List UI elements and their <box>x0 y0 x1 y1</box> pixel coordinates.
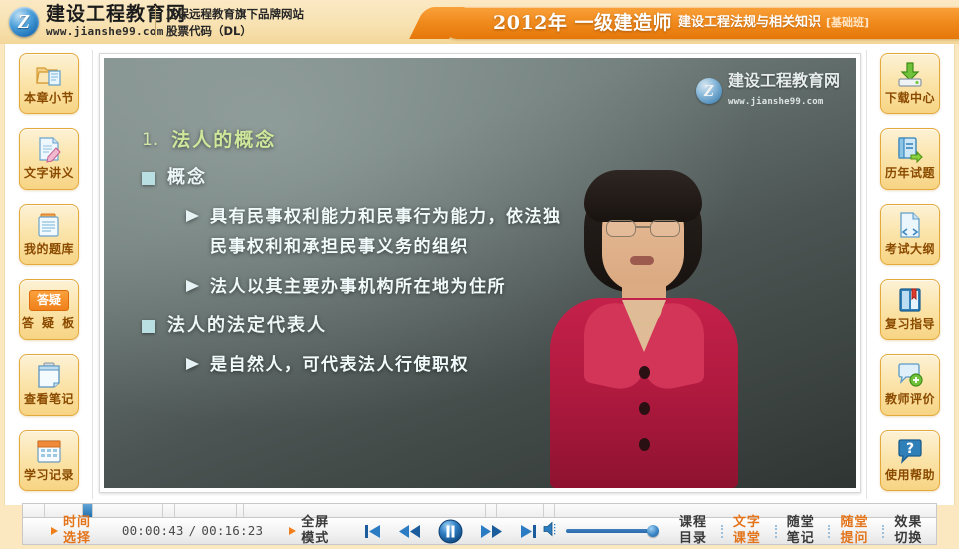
clipboard-lines-icon <box>35 211 63 239</box>
slide-bullet-text: 具有民事权利能力和民事行为能力，依法独 <box>210 204 562 230</box>
course-title-class: [基础班] <box>826 7 869 39</box>
slide-bullet-level3: 具有民事权利能力和民事行为能力，依法独 <box>186 204 836 230</box>
video-stage[interactable]: 建设工程教育网 www.jianshe99.com 1. 法人的概念 概念 <box>99 53 861 493</box>
sidebar-item-label: 查看笔记 <box>24 392 74 406</box>
speech-bubble-plus-icon <box>896 361 924 389</box>
skip-next-icon[interactable] <box>520 523 537 540</box>
sidebar-item-qa-board[interactable]: 答 疑 板 <box>19 279 79 340</box>
sidebar-item-label: 下载中心 <box>885 91 935 105</box>
sidebar-item-my-question-bank[interactable]: 我的题库 <box>19 204 79 265</box>
answer-badge-icon <box>29 290 69 311</box>
volume-control[interactable] <box>543 521 654 542</box>
svg-text:?: ? <box>906 441 914 457</box>
fast-forward-icon[interactable] <box>481 523 502 540</box>
instructor-figure <box>550 170 738 488</box>
sidebar-item-label: 我的题库 <box>24 242 74 256</box>
sidebar-item-label: 历年试题 <box>885 166 935 180</box>
sidebar-item-label: 使用帮助 <box>885 468 935 482</box>
sidebar-item-exam-syllabus[interactable]: 考试大纲 <box>880 204 940 265</box>
transport-controls <box>364 519 537 544</box>
sidebar-item-label: 本章小节 <box>24 91 74 105</box>
player-control-bar: 时间选择 00:00:43 / 00:16:23 全屏模式 <box>22 518 937 545</box>
seek-segment[interactable] <box>497 504 544 517</box>
site-tagline: 正保远程教育旗下品牌网站 股票代码（DL） <box>166 7 304 38</box>
right-sidebar: 下载中心 历年试题 <box>866 44 954 505</box>
fullscreen-label: 全屏模式 <box>301 515 336 547</box>
fullscreen-button[interactable]: 全屏模式 <box>289 515 336 547</box>
sidebar-item-review-guide[interactable]: 复习指导 <box>880 279 940 340</box>
question-bubble-icon: ? <box>896 437 924 465</box>
brand-logo-icon <box>9 7 39 37</box>
triangle-right-icon <box>289 527 296 535</box>
link-text-classroom[interactable]: 文字课堂 <box>724 515 775 547</box>
time-select-label: 时间选择 <box>63 515 98 547</box>
arrow-bullet-icon <box>186 358 199 370</box>
square-bullet-icon <box>142 172 155 185</box>
brand-divider <box>155 6 156 36</box>
time-select-button[interactable]: 时间选择 <box>51 515 98 547</box>
slide-number: 1. <box>142 128 158 152</box>
time-total: 00:16:23 <box>201 523 263 539</box>
seek-segment[interactable] <box>163 504 175 517</box>
calendar-icon <box>35 437 63 465</box>
link-class-question[interactable]: 随堂提问 <box>832 515 883 547</box>
document-code-icon <box>896 211 924 239</box>
link-course-catalog[interactable]: 课程目录 <box>670 515 721 547</box>
brand-text: 建设工程教育网 www.jianshe99.com <box>46 4 186 39</box>
link-effect-switch[interactable]: 效果切换 <box>885 515 936 547</box>
sidebar-item-teacher-rating[interactable]: 教师评价 <box>880 354 940 415</box>
watermark-brand: 建设工程教育网 <box>728 71 840 90</box>
sidebar-item-download-center[interactable]: 下载中心 <box>880 53 940 114</box>
brand-url: www.jianshe99.com <box>46 25 186 39</box>
square-bullet-icon <box>142 320 155 333</box>
watermark-url: www.jianshe99.com <box>728 97 824 107</box>
slide-heading: 法人的概念 <box>171 128 276 152</box>
player-body: 本章小节 文字讲义 <box>4 44 955 505</box>
slide-bullet-level3: 法人以其主要办事机构所在地为住所 <box>186 274 836 300</box>
course-title-bar: 2012年 一级建造师 建设工程法规与相关知识 [基础班] <box>443 7 959 39</box>
course-title-subject: 建设工程法规与相关知识 <box>678 7 821 39</box>
arrow-bullet-icon <box>186 280 199 292</box>
seek-segment[interactable] <box>244 504 486 517</box>
time-display: 00:00:43 / 00:16:23 <box>122 523 263 539</box>
sidebar-item-label: 教师评价 <box>885 392 935 406</box>
link-separator <box>775 525 778 538</box>
sidebar-item-chapter-summary[interactable]: 本章小节 <box>19 53 79 114</box>
folder-document-icon <box>35 60 63 88</box>
rewind-icon[interactable] <box>399 523 420 540</box>
feature-links: 课程目录 文字课堂 随堂笔记 随堂提问 效果切换 <box>670 515 936 547</box>
slide-bullet-text: 法人的法定代表人 <box>167 314 327 338</box>
sidebar-item-usage-help[interactable]: ? 使用帮助 <box>880 430 940 491</box>
left-sidebar: 本章小节 文字讲义 <box>5 44 93 505</box>
slide-bullet-text: 法人以其主要办事机构所在地为住所 <box>210 274 506 300</box>
sidebar-item-text-lecture[interactable]: 文字讲义 <box>19 128 79 189</box>
speaker-icon[interactable] <box>543 521 562 542</box>
link-separator <box>828 525 831 538</box>
slide-bullet-text: 是自然人，可代表法人行使职权 <box>210 352 469 378</box>
page-pencil-icon <box>35 135 63 163</box>
volume-slider[interactable] <box>566 529 654 533</box>
seek-segment[interactable] <box>93 504 163 517</box>
slide-bullet-text: 概念 <box>167 166 207 190</box>
slide-heading-row: 1. 法人的概念 <box>142 128 836 152</box>
page-header: 建设工程教育网 www.jianshe99.com 正保远程教育旗下品牌网站 股… <box>0 0 959 44</box>
tagline-line-1: 正保远程教育旗下品牌网站 <box>166 7 304 21</box>
link-separator <box>721 525 724 538</box>
arrow-bullet-icon <box>186 210 199 222</box>
video-screen[interactable]: 建设工程教育网 www.jianshe99.com 1. 法人的概念 概念 <box>104 58 856 488</box>
link-class-notes[interactable]: 随堂笔记 <box>778 515 829 547</box>
sidebar-item-label: 学习记录 <box>24 468 74 482</box>
volume-slider-handle[interactable] <box>647 525 659 537</box>
glasses-icon <box>606 220 680 235</box>
time-separator: / <box>189 523 197 539</box>
skip-previous-icon[interactable] <box>364 523 381 540</box>
link-separator <box>882 525 885 538</box>
course-title-year: 2012年 一级建造师 <box>493 7 672 39</box>
time-current: 00:00:43 <box>122 523 184 539</box>
slide-bullet-continuation: 民事权利和承担民事义务的组织 <box>210 234 836 260</box>
slide-bullet-level3: 是自然人，可代表法人行使职权 <box>186 352 836 378</box>
play-pause-button[interactable] <box>438 519 463 544</box>
brand-name: 建设工程教育网 <box>46 4 186 24</box>
sidebar-item-label: 答 疑 板 <box>22 316 76 330</box>
tagline-line-2: 股票代码（DL） <box>166 24 304 38</box>
book-bookmark-icon <box>896 286 924 314</box>
seek-segment[interactable] <box>175 504 237 517</box>
sidebar-item-label: 文字讲义 <box>24 166 74 180</box>
seek-segment[interactable] <box>237 504 244 517</box>
site-brand[interactable]: 建设工程教育网 www.jianshe99.com <box>9 4 186 39</box>
sidebar-item-label: 复习指导 <box>885 317 935 331</box>
course-player-app: 建设工程教育网 www.jianshe99.com 正保远程教育旗下品牌网站 股… <box>0 0 959 549</box>
triangle-right-icon <box>51 527 58 535</box>
seek-segment[interactable] <box>23 504 45 517</box>
sidebar-item-view-notes[interactable]: 查看笔记 <box>19 354 79 415</box>
sidebar-item-label: 考试大纲 <box>885 242 935 256</box>
sidebar-item-past-exam-papers[interactable]: 历年试题 <box>880 128 940 189</box>
download-arrow-icon <box>896 60 924 88</box>
watermark-text: 建设工程教育网 www.jianshe99.com <box>728 72 840 109</box>
notepad-icon <box>35 361 63 389</box>
sidebar-item-study-record[interactable]: 学习记录 <box>19 430 79 491</box>
video-watermark: 建设工程教育网 www.jianshe99.com <box>696 72 840 109</box>
slide-bullet-text: 民事权利和承担民事义务的组织 <box>210 237 469 257</box>
watermark-logo-icon <box>696 78 722 104</box>
seek-segment[interactable] <box>486 504 497 517</box>
seek-segment[interactable] <box>544 504 555 517</box>
book-arrow-icon <box>896 135 924 163</box>
